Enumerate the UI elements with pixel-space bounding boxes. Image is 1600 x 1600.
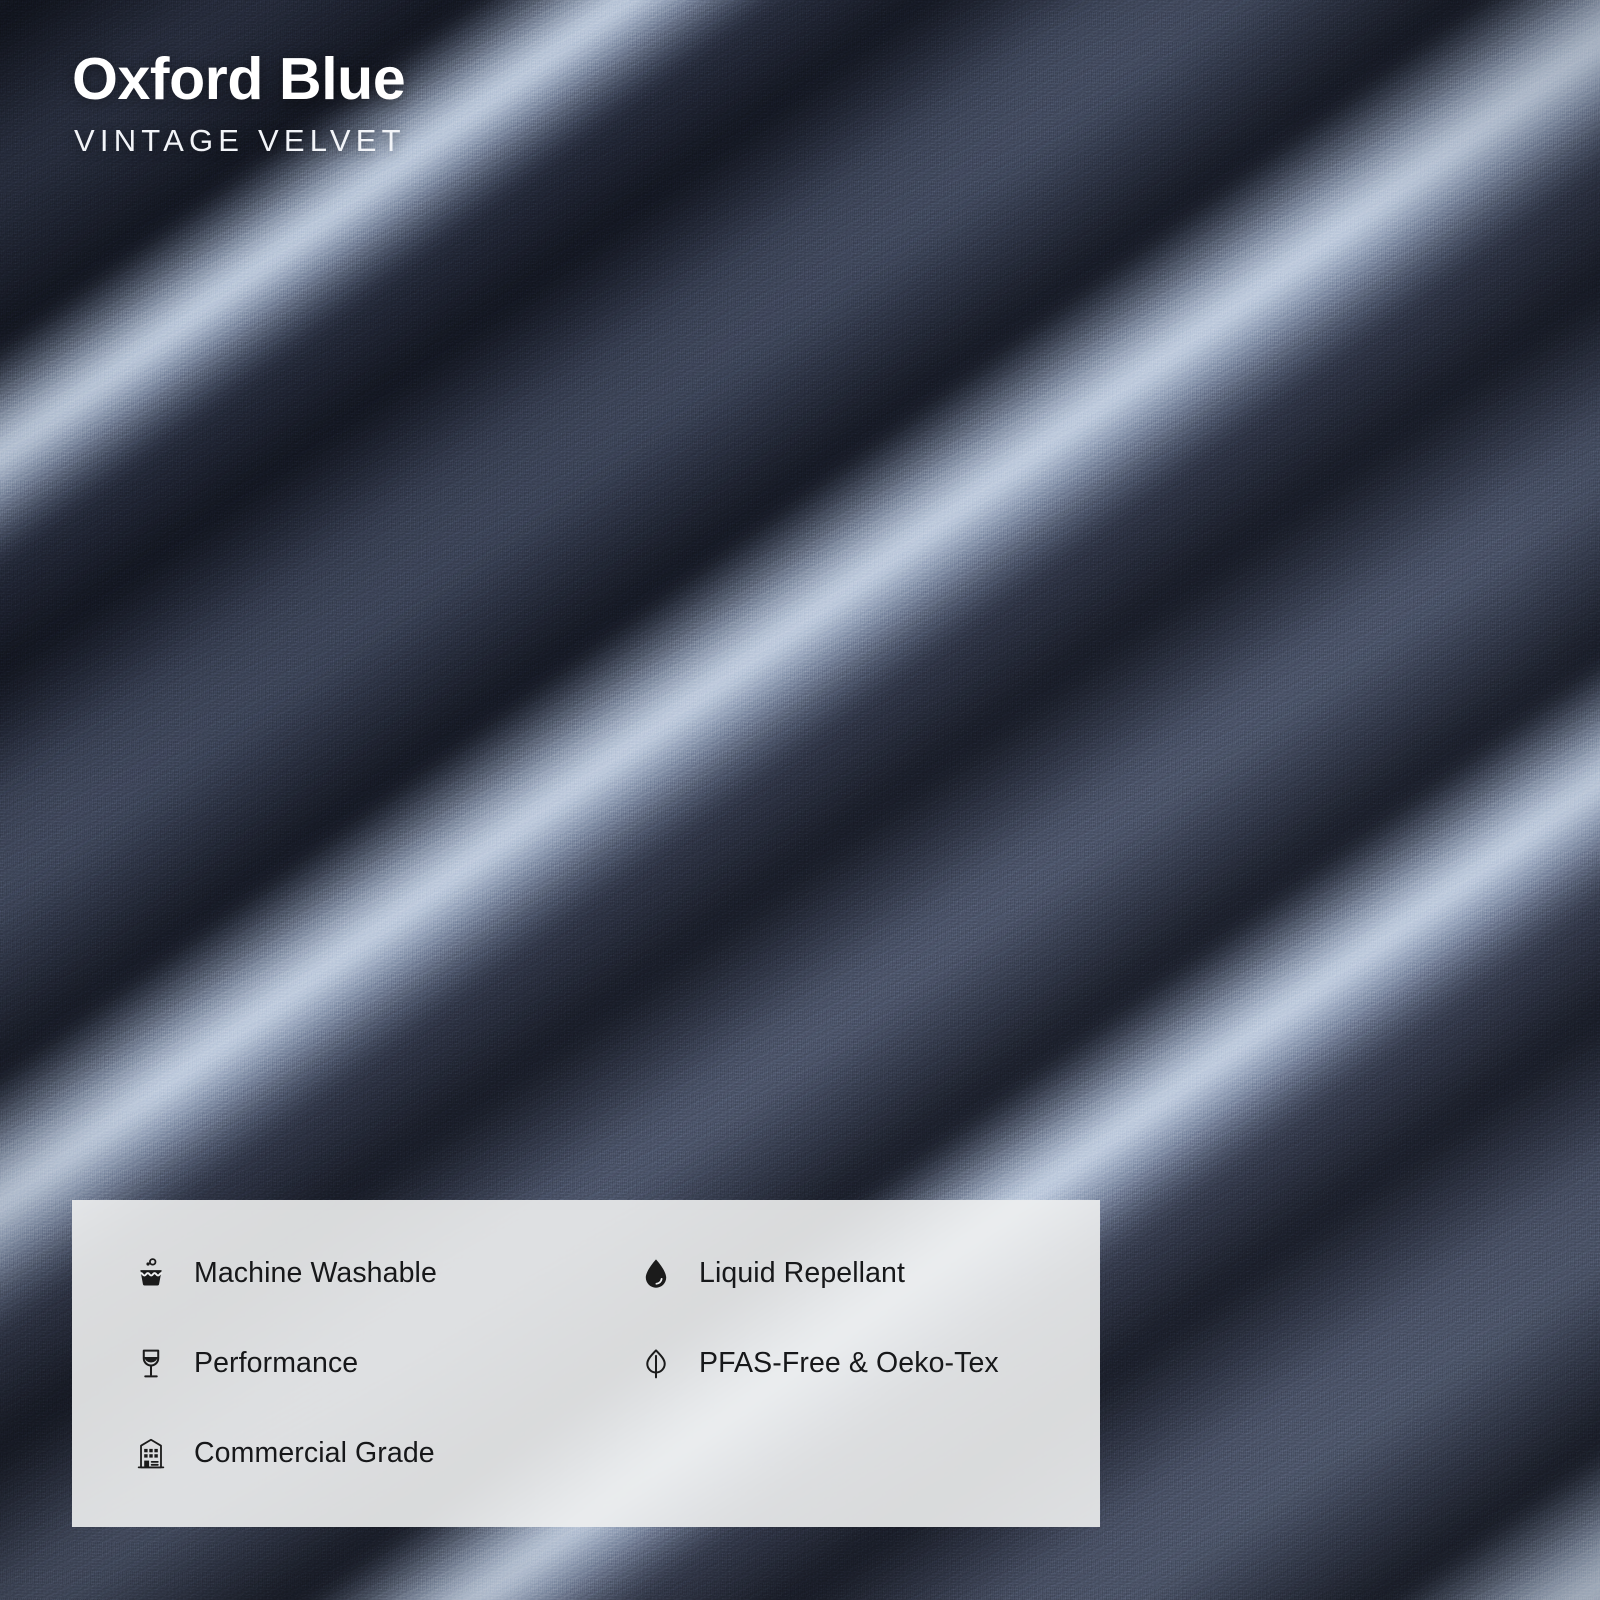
feature-row: Performance PFAS-Free & Oeko-Tex — [124, 1319, 1100, 1409]
leaf-icon — [629, 1347, 683, 1381]
feature-row: Machine Washable Liquid Repellant — [124, 1229, 1100, 1319]
wash-tub-icon — [124, 1257, 178, 1291]
feature-label: Commercial Grade — [194, 1437, 435, 1470]
feature-label: Liquid Repellant — [699, 1257, 905, 1290]
feature-label: PFAS-Free & Oeko-Tex — [699, 1347, 999, 1380]
collection-name: VINTAGE VELVET — [74, 125, 406, 156]
feature-label: Performance — [194, 1347, 358, 1380]
feature-item-performance: Performance — [124, 1347, 629, 1381]
water-drop-icon — [629, 1257, 683, 1291]
wine-glass-icon — [124, 1347, 178, 1381]
feature-row: Commercial Grade — [124, 1409, 1100, 1499]
feature-label: Machine Washable — [194, 1257, 437, 1290]
feature-item-pfas-free-oeko-tex: PFAS-Free & Oeko-Tex — [629, 1347, 999, 1381]
product-name: Oxford Blue — [72, 48, 406, 111]
feature-item-machine-washable: Machine Washable — [124, 1257, 629, 1291]
fabric-swatch-card: Oxford Blue VINTAGE VELVET Machine Washa… — [0, 0, 1600, 1600]
feature-item-commercial-grade: Commercial Grade — [124, 1437, 629, 1471]
product-title-block: Oxford Blue VINTAGE VELVET — [72, 48, 406, 156]
feature-item-liquid-repellant: Liquid Repellant — [629, 1257, 905, 1291]
building-icon — [124, 1437, 178, 1471]
feature-panel: Machine Washable Liquid Repellant — [72, 1200, 1100, 1527]
